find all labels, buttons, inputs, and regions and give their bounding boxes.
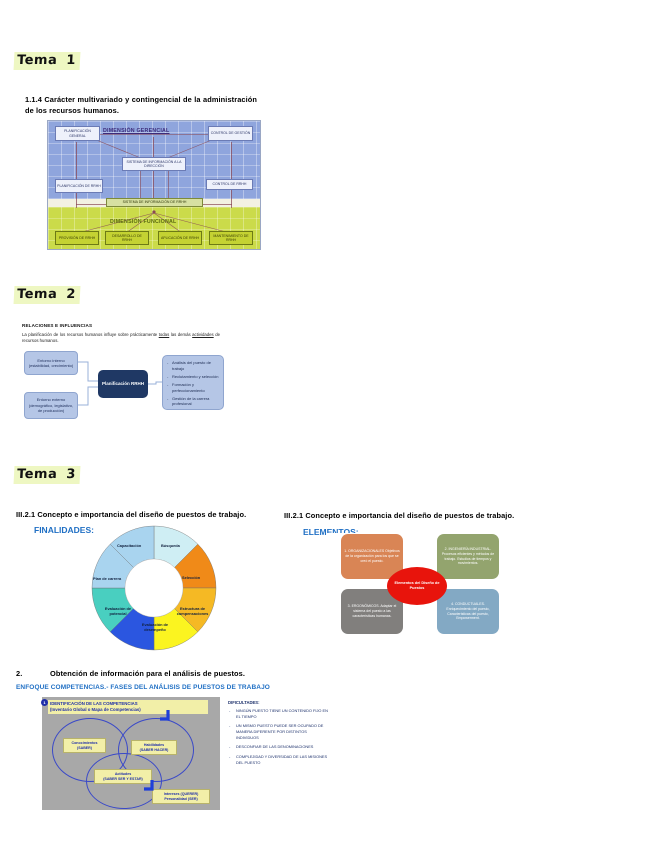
donut-svg — [89, 523, 219, 653]
box-entorno-externo: Entorno externo (demográfico, legislativ… — [24, 392, 78, 419]
diagram-dimension-gerencial-funcional: DIMENSIÓN GERENCIAL DIMENSIÓN FUNCIONAL … — [47, 120, 261, 250]
donut-label-evaluacion-potencial: Evaluación de potencial — [96, 607, 140, 616]
list-item: UN MISMO PUESTO PUEDE SER OCUPADO DE MAN… — [228, 723, 328, 741]
tema-3-number: 3 — [66, 467, 76, 482]
tema-1-word: Tema — [17, 53, 58, 68]
box-planificacion-general: PLANIFICACIÓN GENERAL — [55, 126, 100, 141]
box-planificacion-rrhh-core: Planificación RRHH — [98, 370, 148, 398]
arrow-icon — [144, 780, 152, 789]
dificultades-title: DIFICULTADES: — [228, 700, 328, 705]
section-4-number: 2. — [16, 669, 46, 680]
list-item: Análisis del puesto de trabajo — [167, 360, 220, 372]
section-4-subtitle: ENFOQUE COMPETENCIAS.- FASES DEL ANÁLISI… — [16, 684, 270, 691]
box-ingenieria-industrial: 2. INGENIERÍA INDUSTRIAL. Procesos efici… — [437, 534, 499, 579]
section-3-title-left: III.2.1 Concepto e importancia del diseñ… — [16, 510, 256, 521]
donut-label-plan-carrera: Plan de carrera — [93, 577, 121, 582]
list-item: DESCONFIAR DE LAS DENOMINACIONES — [228, 744, 328, 750]
list-dificultades: DIFICULTADES: NINGÚN PUESTO TIENE UN CON… — [228, 700, 328, 769]
box-sistema-informacion-direccion: SISTEMA DE INFORMACIÓN A LA DIRECCIÓN — [122, 157, 186, 171]
diagram-elementos-diseno-puestos: 1. ORGANIZACIONALES Objetivos de la orga… — [327, 533, 527, 643]
tema-2-word: Tema — [17, 287, 58, 302]
tema-3-word: Tema — [17, 467, 58, 482]
center-elementos-diseno-puestos: Elementos del Diseño de Puestos — [387, 567, 447, 605]
section-1-title: 1.1.4 Carácter multivariado y contingenc… — [25, 95, 257, 116]
donut-label-busqueda: Búsqueda — [161, 544, 180, 549]
box-planificacion-rrhh: PLANIFICACIÓN DE RRHH — [55, 179, 103, 193]
tema-2-number: 2 — [66, 287, 76, 302]
box-control-gestion: CONTROL DE GESTIÓN — [208, 126, 253, 141]
list-item: Formación y perfeccionamiento — [167, 382, 220, 394]
arrow-icon — [160, 710, 168, 719]
box-aplicacion-rrhh: APLICACIÓN DE RRHH — [158, 231, 202, 245]
box-conductuales: 4. CONDUCTUALES. Enriquecimiento del pue… — [437, 589, 499, 634]
list-item: NINGÚN PUESTO TIENE UN CONTENIDO FIJO EN… — [228, 708, 328, 720]
section-3-title-right: III.2.1 Concepto e importancia del diseñ… — [284, 511, 534, 522]
heading-tema-1: Tema1 — [14, 52, 81, 70]
list-actividades-rrhh: Análisis del puesto de trabajo Reclutami… — [162, 355, 224, 410]
box-desarrollo-rrhh: DESARROLLO DE RRHH — [105, 231, 149, 245]
diagram-1-title-bottom: DIMENSIÓN FUNCIONAL — [110, 219, 176, 225]
donut-label-capacitacion: Capacitación — [117, 544, 141, 549]
box-organizacionales: 1. ORGANIZACIONALES Objetivos de la orga… — [341, 534, 403, 579]
subtitle-finalidades: FINALIDADES: — [34, 525, 94, 535]
box-sistema-informacion-rrhh: SISTEMA DE INFORMACIÓN DE RRHH — [106, 198, 203, 207]
diagram-5-arrows — [42, 697, 220, 810]
box-provision-rrhh: PROVISIÓN DE RRHH — [55, 231, 99, 245]
list-item: COMPLEJIDAD Y DIVERSIDAD DE LAS MISIONES… — [228, 754, 328, 766]
box-mantenimiento-rrhh: MANTENIMIENTO DE RRHH — [209, 231, 253, 245]
tema-1-number: 1 — [66, 53, 76, 68]
donut-label-seleccion: Selección — [182, 576, 200, 581]
list-item: Gestión de la carrera profesional — [167, 396, 220, 408]
list-item: Reclutamiento y selección — [167, 374, 220, 380]
diagram-relaciones-influencias: RELACIONES E INFLUENCIAS La planificació… — [22, 323, 227, 421]
chart-finalidades-donut: Búsqueda Selección Estructura de compens… — [89, 523, 219, 653]
box-control-rrhh: CONTROL DE RRHH — [206, 179, 253, 190]
diagram-identificacion-competencias: 1 IDENTIFICACIÓN DE LAS COMPETENCIAS (In… — [42, 697, 220, 810]
document-page: Tema1 1.1.4 Carácter multivariado y cont… — [0, 0, 656, 848]
box-entorno-interno: Entorno interno (estabilidad, crecimient… — [24, 351, 78, 375]
donut-label-evaluacion-desempeno: Evaluación de desempeño — [135, 623, 175, 632]
heading-tema-2: Tema2 — [14, 286, 81, 304]
heading-tema-3: Tema3 — [14, 466, 81, 484]
diagram-1-title-top: DIMENSIÓN GERENCIAL — [103, 128, 169, 134]
section-4-title: Obtención de información para el análisi… — [50, 669, 270, 680]
donut-label-estructura-compensaciones: Estructura de compensaciones — [170, 607, 215, 616]
